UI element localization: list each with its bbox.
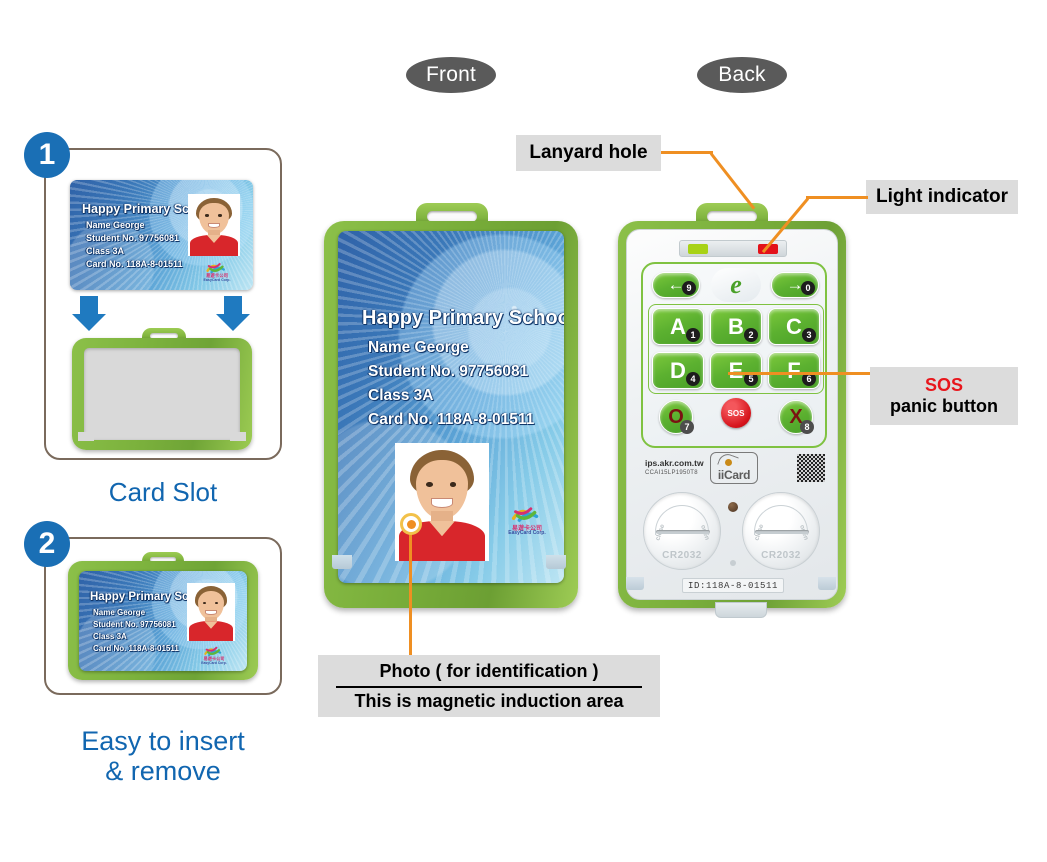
key-c-glyph: C [786,314,802,340]
front-id-card: Happy Primary School Name George Student… [338,231,564,583]
photo-leader-line [409,530,412,658]
step2-card-name: Name George [93,608,145,617]
key-d-glyph: D [670,358,686,384]
key-previous[interactable]: ← 9 [652,272,700,298]
lanyard-hole-callout: Lanyard hole [516,135,661,171]
photo-callout-line2: This is magnetic induction area [354,691,623,712]
nfc-dot-icon [725,459,732,466]
back-notch-right [818,577,836,590]
back-bottom-tab [715,602,767,618]
step2-card-photo [187,583,235,641]
key-e-glyph: E [729,358,744,384]
sos-callout-subtitle: panic button [890,396,998,417]
portrait-illustration [187,583,235,641]
device-front-view: Happy Primary School Name George Student… [324,203,578,608]
key-b-number: 2 [744,328,758,342]
front-corp-en: EasyCard Corp. [502,530,552,536]
front-card-number: Card No. 118A-8-01511 [368,411,534,429]
front-green-frame: Happy Primary School Name George Student… [324,221,578,608]
easy-insert-caption: Easy to insert & remove [44,726,282,786]
front-corp-logo: 易遊卡公司 EasyCard Corp. [502,503,552,537]
key-next-number: 0 [801,281,815,295]
sos-panic-callout: SOS panic button [870,367,1018,425]
back-view-label: Back [697,57,787,93]
key-a[interactable]: A 1 [652,308,704,345]
key-next[interactable]: → 0 [771,272,819,298]
key-cancel-x[interactable]: X 8 [779,400,813,434]
iicard-nfc-logo: iiCard [710,452,758,484]
photo-area-callout: Photo ( for identification ) This is mag… [318,655,660,717]
qr-code-icon [797,454,825,482]
step1-corp-logo: 易遊卡公司 EasyCard Corp. [198,260,236,284]
key-a-number: 1 [686,328,700,342]
battery-type-left: CR2032 [644,550,720,561]
step2-card-class: Class 3A [93,632,127,641]
step1-id-card: Happy Primary School Name George Student… [70,180,253,290]
battery-door-right[interactable]: close open CR2032 [742,492,820,570]
key-b[interactable]: B 2 [710,308,762,345]
step1-card-photo [188,194,240,256]
key-e[interactable]: E 5 [710,352,762,389]
card-slot-caption: Card Slot [44,478,282,507]
empty-card-holder [72,328,252,450]
step1-card-class: Class 3A [86,246,124,256]
key-confirm-o[interactable]: O 7 [659,400,693,434]
device-id-plate: ID:118A-8-01511 [682,578,784,593]
front-card-name: Name George [368,339,469,357]
sos-leader-line [728,372,870,375]
keypad-panel: ← 9 e → 0 A 1 B 2 [641,262,827,448]
photo-callout-line1: Photo ( for identification ) [380,661,599,685]
device-back-view: ← 9 e → 0 A 1 B 2 [618,203,846,608]
light-leader-h [806,196,868,199]
front-notch-left [332,555,352,569]
lanyard-leader-h [661,151,713,154]
key-c[interactable]: C 3 [768,308,820,345]
photo-callout-marker [400,513,422,535]
front-card-student: Student No. 97756081 [368,363,528,381]
front-notch-right [546,555,566,569]
easy-insert-line1: Easy to insert [44,726,282,756]
key-c-number: 3 [802,328,816,342]
step-1-badge: 1 [24,132,70,178]
sos-callout-title: SOS [925,375,963,396]
front-card-class: Class 3A [368,387,433,405]
manufacturer-url: ips.akr.com.tw [645,458,704,468]
key-previous-number: 9 [682,281,696,295]
step2-corp-en: EasyCard Corp. [197,661,231,665]
step1-card-student: Student No. 97756081 [86,233,179,243]
step1-card-name: Name George [86,220,145,230]
light-indicator-callout: Light indicator [866,180,1018,214]
key-d-number: 4 [686,372,700,386]
sos-panic-button[interactable]: SOS [721,398,751,428]
back-notch-left [626,577,644,590]
key-f-glyph: F [787,358,800,384]
reset-pinhole-icon [730,560,736,566]
battery-screw-slot-left [656,530,710,534]
lanyard-leader-diag [710,153,755,210]
key-a-glyph: A [670,314,686,340]
photo-callout-divider [336,686,642,688]
step2-id-card: Happy Primary School Name George Student… [79,571,247,671]
filled-card-holder: Happy Primary School Name George Student… [68,552,258,680]
step1-corp-en: EasyCard Corp. [198,278,236,282]
key-x-number: 8 [800,420,814,434]
portrait-illustration [188,194,240,256]
step2-card-student: Student No. 97756081 [93,620,176,629]
product-diagram-page: Front Back 1 Happy Primary School Name G… [0,0,1047,862]
easycard-logo-icon [502,503,552,524]
front-card-school: Happy Primary School [362,307,564,330]
key-o-number: 7 [680,420,694,434]
screw-icon [728,502,738,512]
step-2-badge: 2 [24,521,70,567]
step2-card-number: Card No. 118A-8-01511 [93,644,179,653]
brand-e-logo-icon: e [711,268,761,302]
certification-number: CCAI15LP1950T8 [645,470,698,476]
step2-corp-logo: 易遊卡公司 EasyCard Corp. [197,644,231,666]
key-d[interactable]: D 4 [652,352,704,389]
back-white-body: ← 9 e → 0 A 1 B 2 [626,229,838,600]
front-view-label: Front [406,57,496,93]
key-f[interactable]: F 6 [768,352,820,389]
easy-insert-line2: & remove [44,756,282,786]
back-green-frame: ← 9 e → 0 A 1 B 2 [618,221,846,608]
green-indicator-light-icon [688,244,708,254]
step1-card-number: Card No. 118A-8-01511 [86,259,183,269]
key-b-glyph: B [728,314,744,340]
battery-screw-slot-right [755,530,809,534]
battery-type-right: CR2032 [743,550,819,561]
battery-door-left[interactable]: close open CR2032 [643,492,721,570]
